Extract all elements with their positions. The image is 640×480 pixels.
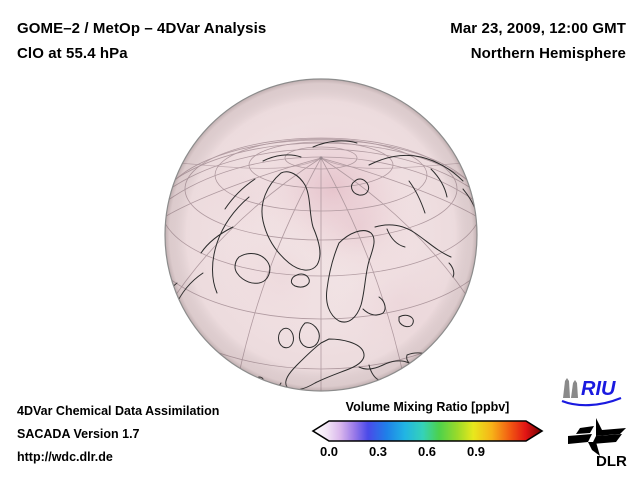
colorbar-tick-1: 0.3 — [369, 444, 387, 459]
dlr-emblem-icon — [568, 418, 626, 456]
north-pole-marker — [319, 156, 322, 159]
hemisphere-label: Northern Hemisphere — [326, 41, 626, 66]
globe-svg — [163, 77, 479, 393]
riu-wordmark: RIU — [581, 378, 616, 400]
colorbar-tick-0: 0.0 — [320, 444, 338, 459]
riu-towers-icon — [563, 378, 578, 398]
colorbar-title: Volume Mixing Ratio [ppbv] — [305, 400, 550, 414]
footer-line-system: 4DVar Chemical Data Assimilation — [17, 400, 219, 423]
figure-canvas: GOME–2 / MetOp – 4DVar Analysis ClO at 5… — [0, 0, 640, 480]
footer-line-url[interactable]: http://wdc.dlr.de — [17, 446, 219, 469]
colorbar-tick-3: 0.9 — [467, 444, 485, 459]
dlr-wordmark: DLR — [596, 453, 627, 470]
footer-line-version: SACADA Version 1.7 — [17, 423, 219, 446]
globe-map — [163, 77, 479, 393]
riu-logo: RIU — [559, 374, 635, 408]
globe-limb-shading — [165, 79, 477, 391]
colorbar-swatch — [305, 418, 550, 444]
footer-credits: 4DVar Chemical Data Assimilation SACADA … — [17, 400, 219, 469]
colorbar-tick-labels: 0.0 0.3 0.6 0.9 — [305, 444, 550, 466]
colorbar: Volume Mixing Ratio [ppbv] 0.0 0.3 0.6 0… — [305, 400, 550, 470]
header-right-block: Mar 23, 2009, 12:00 GMT Northern Hemisph… — [326, 16, 626, 66]
dlr-logo: DLR — [566, 416, 636, 470]
colorbar-tick-2: 0.6 — [418, 444, 436, 459]
valid-time-label: Mar 23, 2009, 12:00 GMT — [326, 16, 626, 41]
